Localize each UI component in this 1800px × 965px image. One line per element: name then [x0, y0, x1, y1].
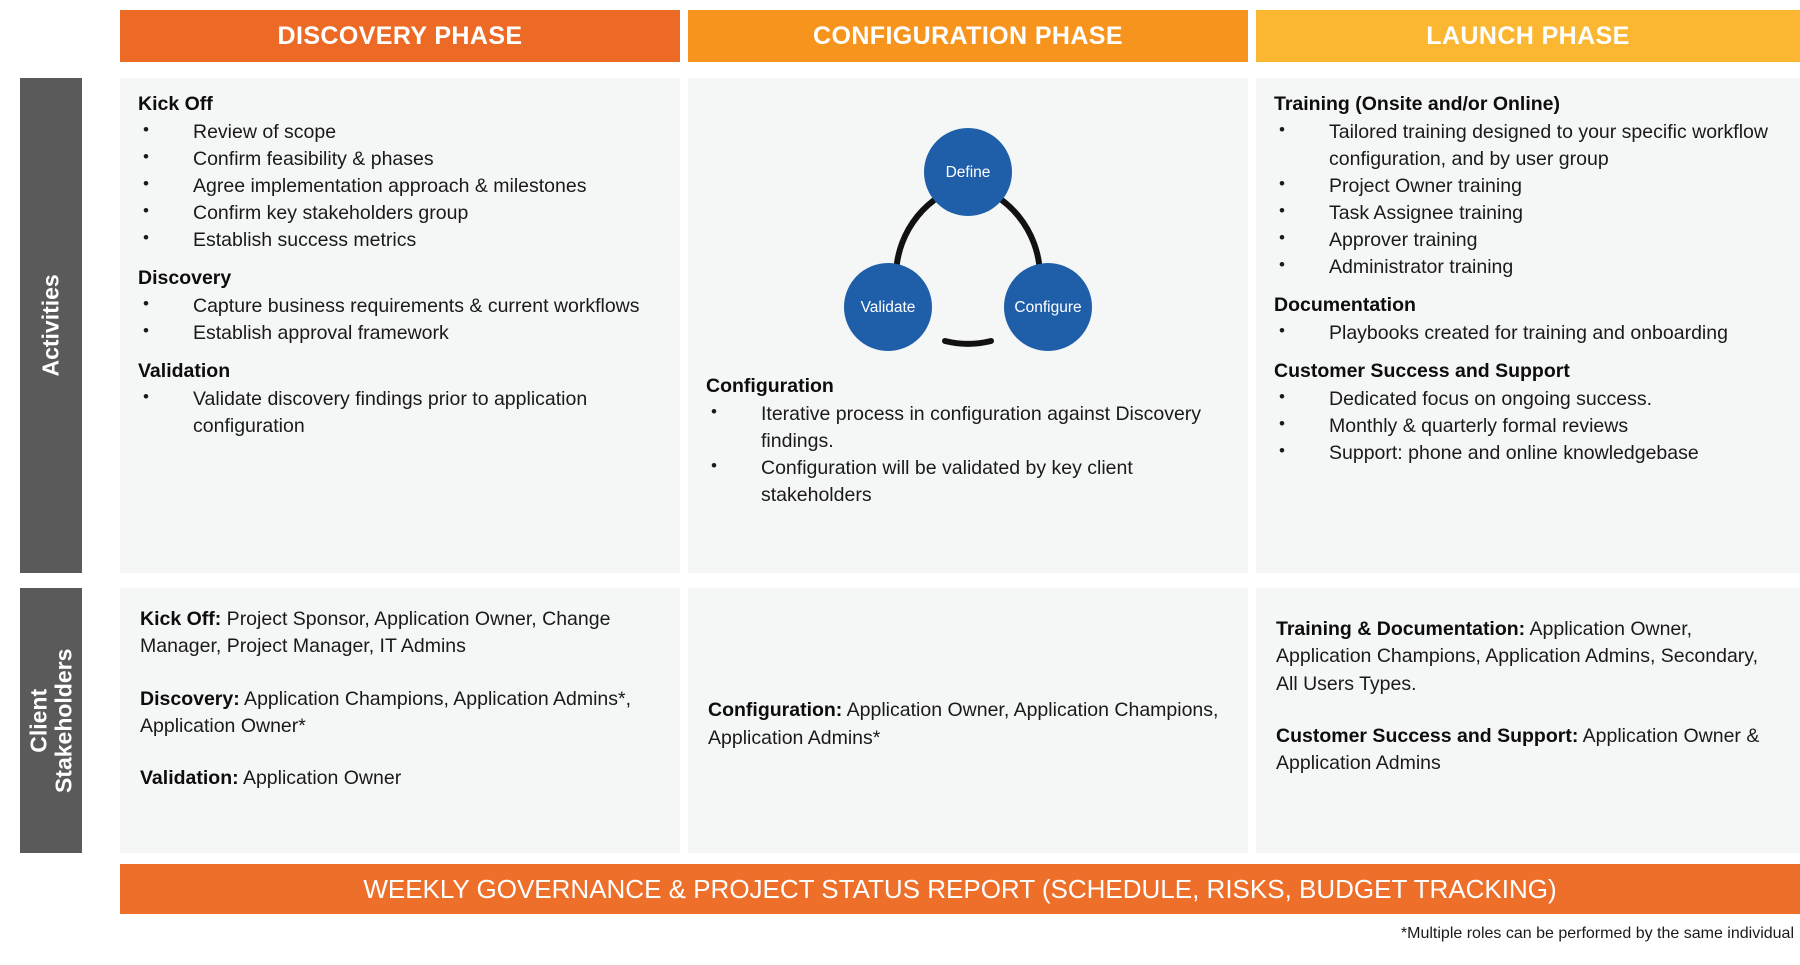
stakeholder-entry-label: Training & Documentation:: [1276, 618, 1525, 640]
activity-bullet: Administrator training: [1274, 254, 1780, 281]
phase-header-launch: LAUNCH PHASE: [1256, 10, 1800, 62]
activity-bullet-list: Iterative process in configuration again…: [706, 401, 1228, 509]
activity-bullet-list: Capture business requirements & current …: [138, 293, 660, 347]
activity-bullet: Agree implementation approach & mileston…: [138, 173, 660, 200]
stakeholder-entry: Kick Off: Project Sponsor, Application O…: [140, 606, 658, 661]
phase-header-configuration: CONFIGURATION PHASE: [688, 10, 1248, 62]
stakeholders-panel-configuration: Configuration: Application Owner, Applic…: [688, 588, 1248, 853]
activity-bullet: Support: phone and online knowledgebase: [1274, 440, 1780, 467]
phase-header-discovery-label: DISCOVERY PHASE: [278, 22, 523, 51]
stakeholder-entry: Configuration: Application Owner, Applic…: [708, 697, 1226, 752]
activity-block-title: Documentation: [1274, 293, 1780, 318]
stakeholder-entry-label: Kick Off:: [140, 608, 221, 630]
row-label-client-stakeholders: Client Stakeholders: [20, 588, 82, 853]
cycle-node-validate-label: Validate: [861, 299, 916, 316]
activity-block-title: Training (Onsite and/or Online): [1274, 92, 1780, 117]
activity-bullet: Validate discovery findings prior to app…: [138, 386, 660, 440]
phase-header-discovery: DISCOVERY PHASE: [120, 10, 680, 62]
activity-bullet-list: Playbooks created for training and onboa…: [1274, 320, 1780, 347]
activity-bullet-list: Dedicated focus on ongoing success. Mont…: [1274, 386, 1780, 467]
governance-banner-text: WEEKLY GOVERNANCE & PROJECT STATUS REPOR…: [363, 874, 1556, 905]
activity-bullet: Configuration will be validated by key c…: [706, 455, 1228, 509]
stakeholder-entry: Training & Documentation: Application Ow…: [1276, 616, 1778, 698]
activity-block: Customer Success and Support Dedicated f…: [1274, 359, 1780, 467]
stakeholder-entry-label: Validation:: [140, 767, 239, 789]
activity-bullet-list: Tailored training designed to your speci…: [1274, 119, 1780, 280]
activity-block-title: Kick Off: [138, 92, 660, 117]
cycle-node-define-label: Define: [946, 164, 991, 181]
activities-panel-launch: Training (Onsite and/or Online) Tailored…: [1256, 78, 1800, 573]
activity-bullet: Establish approval framework: [138, 320, 660, 347]
activity-block: Documentation Playbooks created for trai…: [1274, 293, 1780, 347]
stakeholders-configuration-content: Configuration: Application Owner, Applic…: [688, 588, 1248, 853]
stakeholder-entry-label: Customer Success and Support:: [1276, 725, 1578, 747]
activity-bullet-list: Review of scope Confirm feasibility & ph…: [138, 119, 660, 254]
activity-bullet: Dedicated focus on ongoing success.: [1274, 386, 1780, 413]
activity-block: Training (Onsite and/or Online) Tailored…: [1274, 92, 1780, 281]
governance-banner: WEEKLY GOVERNANCE & PROJECT STATUS REPOR…: [120, 864, 1800, 914]
cycle-node-configure-label: Configure: [1014, 299, 1081, 316]
stakeholder-entry: Validation: Application Owner: [140, 765, 658, 792]
stakeholder-entry: Discovery: Application Champions, Applic…: [140, 686, 658, 741]
activity-block-title: Discovery: [138, 266, 660, 291]
activities-panel-discovery: Kick Off Review of scope Confirm feasibi…: [120, 78, 680, 573]
activity-block: Configuration Iterative process in confi…: [706, 374, 1228, 509]
define-configure-validate-cycle-diagram: Define Configure Validate: [688, 78, 1248, 388]
phase-header-launch-label: LAUNCH PHASE: [1426, 22, 1629, 51]
activity-block: Validation Validate discovery findings p…: [138, 359, 660, 440]
activities-launch-content: Training (Onsite and/or Online) Tailored…: [1256, 78, 1800, 477]
activity-bullet-list: Validate discovery findings prior to app…: [138, 386, 660, 440]
activity-bullet: Establish success metrics: [138, 227, 660, 254]
activity-bullet: Tailored training designed to your speci…: [1274, 119, 1780, 173]
footnote: *Multiple roles can be performed by the …: [1401, 925, 1794, 943]
activities-discovery-content: Kick Off Review of scope Confirm feasibi…: [120, 78, 680, 450]
stakeholders-panel-discovery: Kick Off: Project Sponsor, Application O…: [120, 588, 680, 853]
row-label-activities-text: Activities: [38, 274, 64, 376]
activity-block: Kick Off Review of scope Confirm feasibi…: [138, 92, 660, 254]
implementation-phases-diagram: DISCOVERY PHASE CONFIGURATION PHASE LAUN…: [0, 0, 1800, 965]
cycle-arc-configure-to-validate: [945, 341, 991, 344]
row-label-stakeholders-line2: Stakeholders: [51, 648, 76, 792]
activity-block-title: Customer Success and Support: [1274, 359, 1780, 384]
activity-bullet: Capture business requirements & current …: [138, 293, 660, 320]
stakeholders-configuration-inner: Configuration: Application Owner, Applic…: [688, 679, 1248, 762]
activity-block: Discovery Capture business requirements …: [138, 266, 660, 347]
activity-bullet: Review of scope: [138, 119, 660, 146]
row-label-activities: Activities: [20, 78, 82, 573]
cycle-svg: Define Configure Validate: [688, 78, 1248, 388]
stakeholders-panel-launch: Training & Documentation: Application Ow…: [1256, 588, 1800, 853]
stakeholder-entry-label: Configuration:: [708, 699, 842, 721]
activity-bullet: Playbooks created for training and onboa…: [1274, 320, 1780, 347]
phase-header-configuration-label: CONFIGURATION PHASE: [813, 22, 1123, 51]
stakeholder-entry-value: Application Owner: [239, 767, 402, 789]
stakeholder-entry: Customer Success and Support: Applicatio…: [1276, 723, 1778, 778]
activity-bullet: Iterative process in configuration again…: [706, 401, 1228, 455]
stakeholders-launch-content: Training & Documentation: Application Ow…: [1256, 588, 1800, 787]
activity-bullet: Confirm key stakeholders group: [138, 200, 660, 227]
activity-bullet: Monthly & quarterly formal reviews: [1274, 413, 1780, 440]
activity-bullet: Confirm feasibility & phases: [138, 146, 660, 173]
row-label-stakeholders-line1: Client: [26, 648, 51, 792]
activity-bullet: Task Assignee training: [1274, 200, 1780, 227]
activity-block-title: Validation: [138, 359, 660, 384]
activity-bullet: Project Owner training: [1274, 173, 1780, 200]
stakeholders-discovery-content: Kick Off: Project Sponsor, Application O…: [120, 588, 680, 802]
activity-bullet: Approver training: [1274, 227, 1780, 254]
stakeholder-entry-label: Discovery:: [140, 688, 240, 710]
